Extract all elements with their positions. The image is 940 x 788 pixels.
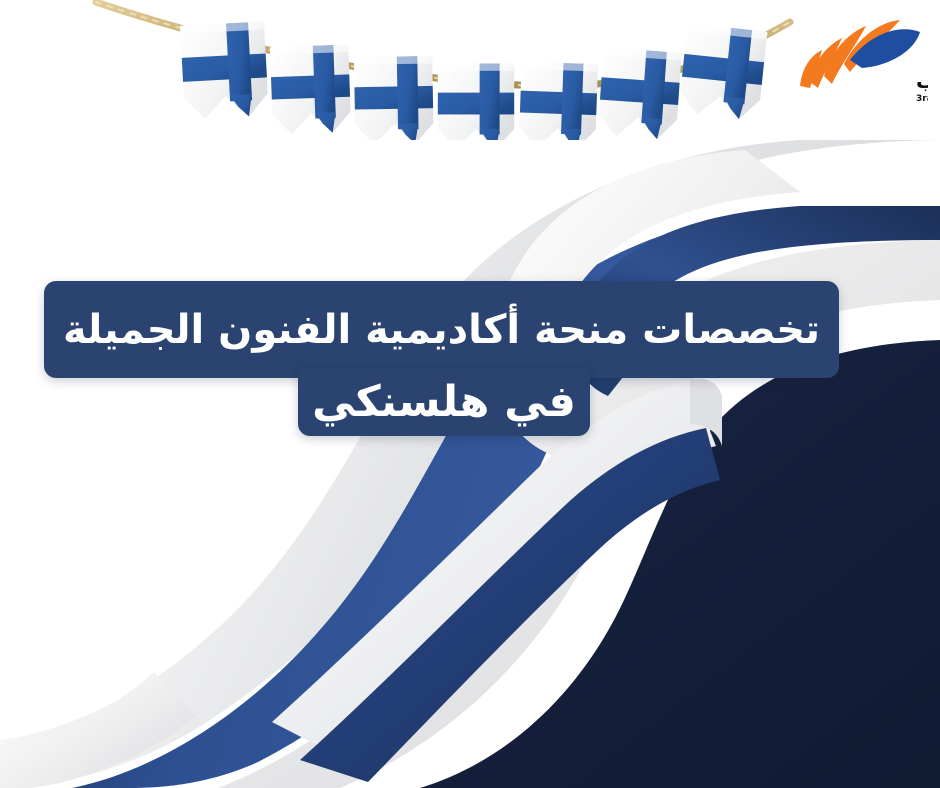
flag-4 (438, 64, 514, 140)
site-logo[interactable]: دليل الطالب 3rabg.com (788, 8, 928, 104)
flag-7 (678, 23, 767, 121)
flag-6 (598, 48, 682, 140)
poster-canvas: دليل الطالب 3rabg.com تخصصات منحة أكاديم… (0, 0, 940, 788)
ribbon-fold-blue (300, 428, 720, 782)
logo-website: 3rabg.com (916, 94, 928, 104)
ribbon-outer-white-band (0, 140, 940, 788)
flag-3 (354, 56, 434, 140)
flag-2 (270, 45, 351, 135)
flag-1 (180, 21, 269, 119)
page-title-line-1: تخصصات منحة أكاديمية الفنون الجميلة (63, 310, 820, 350)
ribbon-fold-tip (690, 379, 722, 446)
logo-wordmark: دليل الطالب (916, 69, 928, 93)
logo-artwork: دليل الطالب 3rabg.com (788, 8, 928, 104)
flag-5 (519, 62, 598, 140)
title-plate-line-1: تخصصات منحة أكاديمية الفنون الجميلة (44, 281, 839, 378)
title-plate-line-2: في هلسنكي (298, 369, 590, 436)
ribbon-left-tail (0, 672, 196, 788)
bunting-flags (180, 21, 767, 140)
ribbon-fold-white (272, 380, 716, 760)
page-title-line-2: في هلسنكي (312, 381, 576, 424)
